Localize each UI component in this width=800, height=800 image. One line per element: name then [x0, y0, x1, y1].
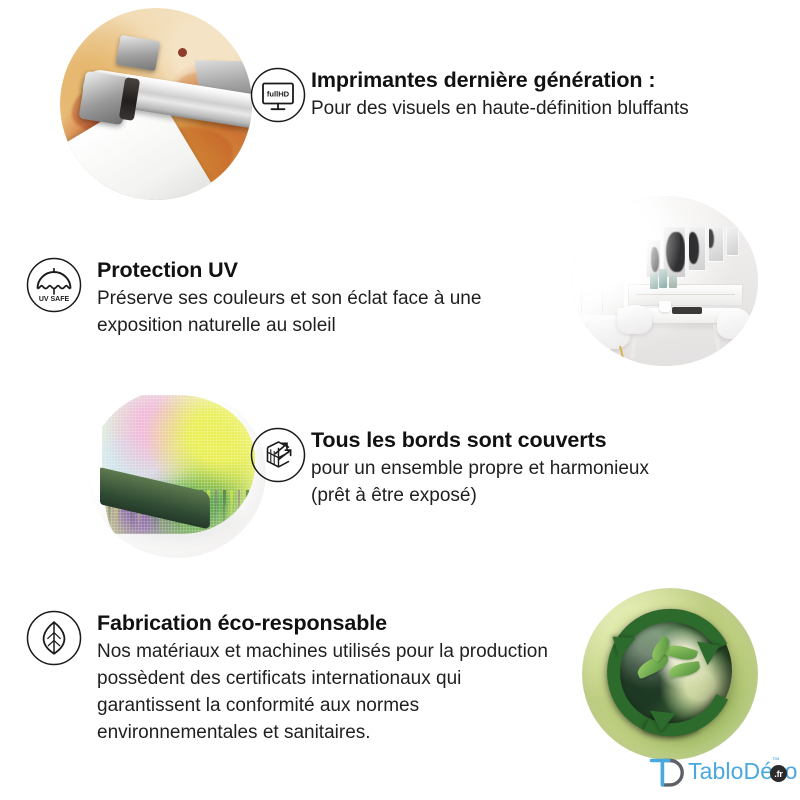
- eco-globe-recycling-photo: [582, 588, 758, 760]
- trademark-symbol: ™: [772, 756, 780, 765]
- tablodeco-logo[interactable]: TabloDéco ™ .fr: [646, 752, 794, 794]
- feature-print-quality-heading: Imprimantes dernière génération :: [311, 68, 781, 93]
- leaf-icon: [26, 610, 82, 666]
- feature-uv-protection-text: Protection UV Préserve ses couleurs et s…: [97, 258, 567, 340]
- feature-uv-protection-heading: Protection UV: [97, 258, 567, 283]
- infographic-canvas: fullHD Imprimantes dernière génération :…: [0, 0, 800, 800]
- umbrella-uv-safe-icon: UV SAFE: [26, 257, 82, 313]
- tld-badge: .fr: [770, 765, 787, 782]
- canvas-corner-abstract-print-photo: [88, 388, 266, 558]
- feature-eco-manufacturing-body: Nos matériaux et machines utilisés pour …: [97, 639, 597, 747]
- feature-covered-edges-body: pour un ensemble propre et harmonieux (p…: [311, 456, 781, 510]
- td-monogram-icon: [646, 754, 686, 792]
- feature-eco-manufacturing-heading: Fabrication éco-responsable: [97, 611, 597, 636]
- feature-print-quality-body: Pour des visuels en haute-définition blu…: [311, 96, 781, 123]
- feature-eco-manufacturing-text: Fabrication éco-responsable Nos matériau…: [97, 611, 597, 747]
- feature-uv-protection-body: Préserve ses couleurs et son éclat face …: [97, 286, 567, 340]
- feature-covered-edges-text: Tous les bords sont couverts pour un ens…: [311, 428, 781, 510]
- wrapped-edges-icon: [250, 427, 306, 483]
- feature-print-quality-text: Imprimantes dernière génération : Pour d…: [311, 68, 781, 123]
- dining-room-wall-art-photo: [572, 196, 758, 366]
- fullhd-icon-label: fullHD: [267, 90, 290, 99]
- printer-roller-map-print-photo: [60, 8, 252, 200]
- uv-safe-icon-label: UV SAFE: [39, 296, 70, 303]
- monitor-fullhd-icon: fullHD: [250, 67, 306, 123]
- feature-covered-edges-heading: Tous les bords sont couverts: [311, 428, 781, 453]
